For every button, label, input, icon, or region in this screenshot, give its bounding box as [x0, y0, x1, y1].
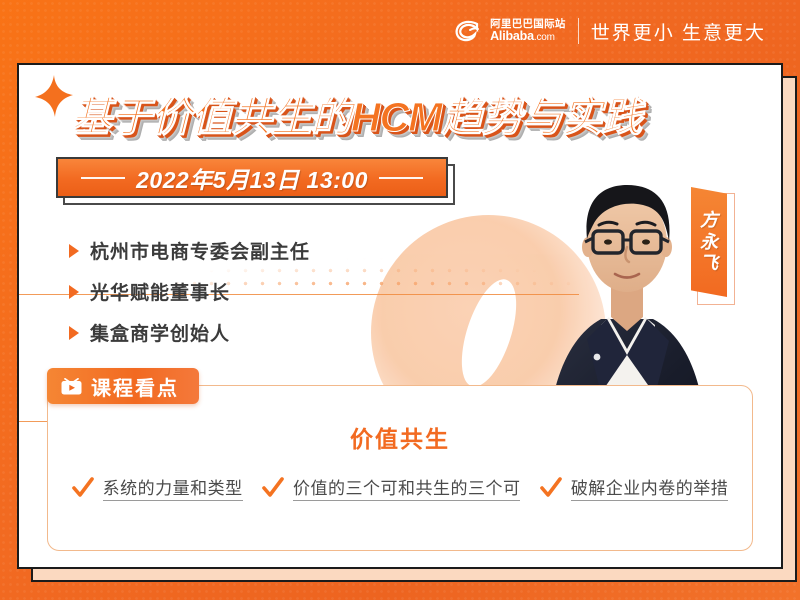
- list-item: 光华赋能董事长: [69, 278, 310, 305]
- alibaba-en-text: Alibaba: [490, 29, 534, 43]
- speaker-name-char: 方: [700, 211, 718, 230]
- triangle-bullet-icon: [69, 244, 79, 258]
- check-mark-icon: [262, 477, 284, 499]
- highlight-label: 破解企业内卷的举措: [571, 474, 729, 501]
- credential-label: 杭州市电商专委会副主任: [90, 237, 310, 264]
- list-item: 破解企业内卷的举措: [540, 474, 729, 501]
- list-item: 价值的三个可和共生的三个可: [262, 474, 521, 501]
- top-brand-bar: 阿里巴巴国际站 Alibaba.com 世界更小 生意更大: [0, 0, 800, 62]
- brand-divider: [578, 18, 579, 44]
- brand-slogan: 世界更小 生意更大: [591, 18, 766, 45]
- alibaba-e-logo-icon: [455, 20, 485, 42]
- list-item: 集盒商学创始人: [69, 319, 310, 346]
- highlights-box: 价值共生 系统的力量和类型 价值的三个可和共生的三个可 破解企业内卷的举措: [47, 385, 753, 551]
- tv-play-icon: [61, 378, 82, 395]
- speaker-name-char: 永: [700, 233, 718, 252]
- speaker-name-banner: 方 永 飞: [691, 187, 727, 297]
- highlights-badge: 课程看点: [47, 368, 199, 404]
- highlight-label: 价值的三个可和共生的三个可: [293, 474, 521, 501]
- triangle-bullet-icon: [69, 285, 79, 299]
- alibaba-tld: .com: [534, 32, 555, 43]
- highlights-badge-label: 课程看点: [91, 372, 179, 401]
- credential-label: 光华赋能董事长: [90, 278, 230, 305]
- list-item: 系统的力量和类型: [72, 474, 243, 501]
- poster-title: 基于价值共生的HCM趋势与实践: [71, 83, 641, 143]
- brand-lockup: 阿里巴巴国际站 Alibaba.com 世界更小 生意更大: [455, 18, 766, 45]
- date-banner: 2022年5月13日 13:00: [56, 157, 448, 198]
- date-rule-left: [81, 177, 125, 179]
- date-text: 2022年5月13日 13:00: [136, 161, 368, 195]
- speaker-name-char: 飞: [700, 254, 718, 273]
- date-banner-chip: 2022年5月13日 13:00: [56, 157, 448, 198]
- highlight-label: 系统的力量和类型: [103, 474, 243, 501]
- poster-card: 基于价值共生的HCM趋势与实践 2022年5月13日 13:00 杭州市电商专委…: [17, 63, 783, 569]
- triangle-bullet-icon: [69, 326, 79, 340]
- alibaba-logo: 阿里巴巴国际站 Alibaba.com: [455, 19, 566, 43]
- date-rule-right: [379, 177, 423, 179]
- four-point-star-icon: [31, 73, 75, 119]
- credential-label: 集盒商学创始人: [90, 319, 230, 346]
- check-mark-icon: [540, 477, 562, 499]
- alibaba-wordmark: 阿里巴巴国际站 Alibaba.com: [490, 19, 566, 43]
- highlights-heading: 价值共生: [48, 420, 752, 454]
- check-mark-icon: [72, 477, 94, 499]
- alibaba-en-name: Alibaba.com: [490, 30, 566, 43]
- credentials-list: 杭州市电商专委会副主任 光华赋能董事长 集盒商学创始人: [69, 237, 310, 360]
- list-item: 杭州市电商专委会副主任: [69, 237, 310, 264]
- highlights-row: 系统的力量和类型 价值的三个可和共生的三个可 破解企业内卷的举措: [48, 474, 752, 501]
